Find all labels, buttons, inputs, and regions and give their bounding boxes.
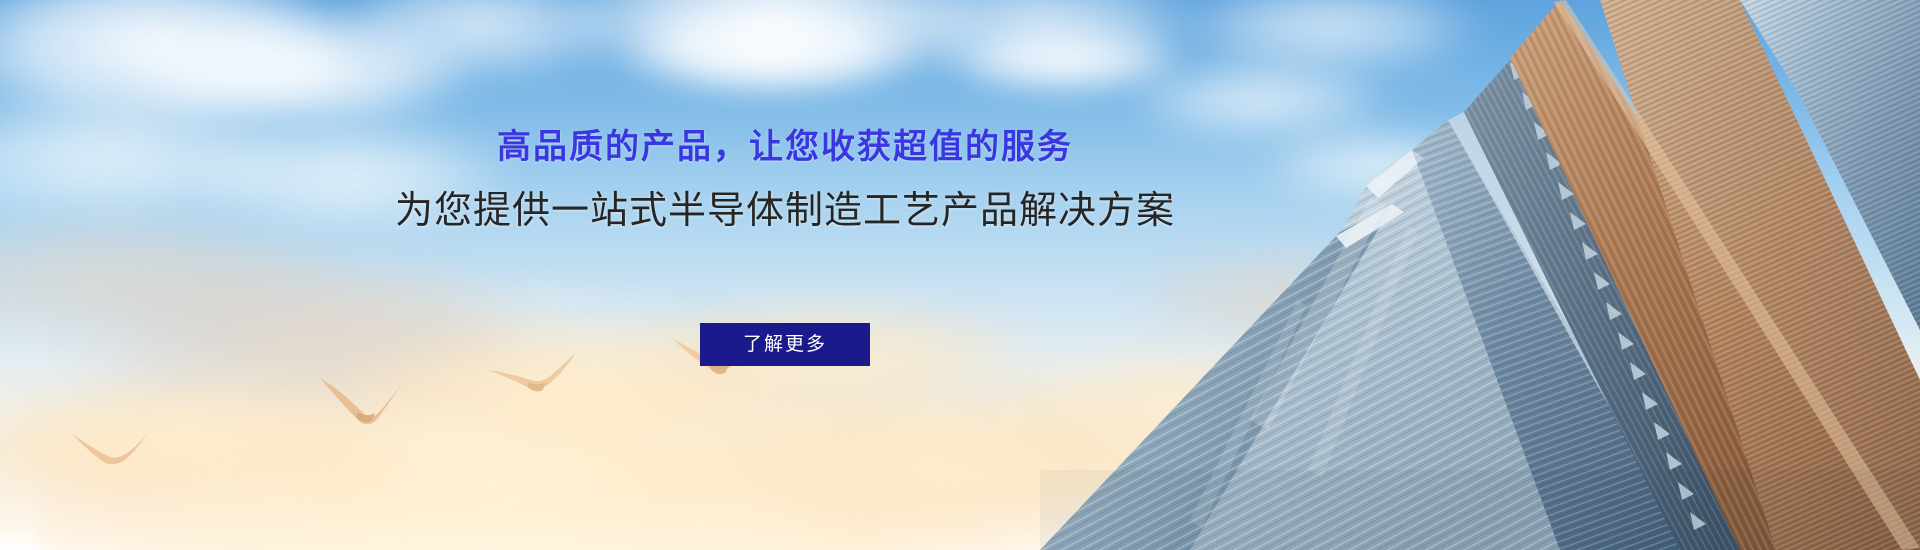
seagull-icon — [70, 428, 150, 474]
cta-row: 了解更多 — [0, 323, 1570, 366]
learn-more-button[interactable]: 了解更多 — [700, 323, 870, 366]
hero-banner: 高品质的产品，让您收获超值的服务 为您提供一站式半导体制造工艺产品解决方案 了解… — [0, 0, 1920, 550]
sun-glow-core — [119, 270, 879, 550]
seagull-icon — [318, 368, 404, 428]
glass-tower-image — [1040, 0, 1920, 550]
